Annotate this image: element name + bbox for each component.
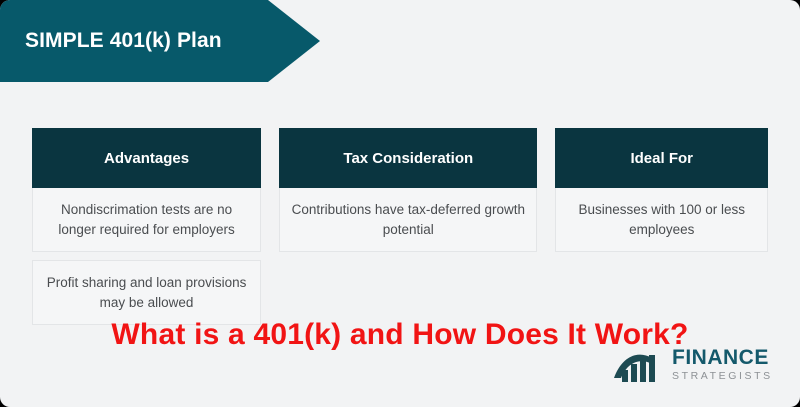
- logo-text: FINANCE STRATEGISTS: [672, 347, 773, 382]
- column-header-tax-consideration: Tax Consideration: [279, 128, 537, 188]
- comparison-table: Advantages Nondiscrimation tests are no …: [32, 128, 768, 325]
- page-surface: SIMPLE 401(k) Plan Advantages Nondiscrim…: [0, 0, 800, 407]
- table-column-tax-consideration: Tax Consideration Contributions have tax…: [279, 128, 537, 252]
- table-cell: Profit sharing and loan provisions may b…: [32, 260, 261, 325]
- header-banner: SIMPLE 401(k) Plan: [0, 0, 320, 82]
- cell-spacer: [32, 252, 261, 260]
- logo-word-strategists: STRATEGISTS: [672, 371, 773, 382]
- column-header-ideal-for: Ideal For: [555, 128, 768, 188]
- table-cell: Businesses with 100 or less employees: [555, 188, 768, 252]
- table-column-ideal-for: Ideal For Businesses with 100 or less em…: [555, 128, 768, 252]
- bar-chart-bridge-icon: [612, 344, 668, 384]
- table-cell: Contributions have tax-deferred growth p…: [279, 188, 537, 252]
- logo-word-finance: FINANCE: [672, 347, 773, 368]
- screenshot-root: SIMPLE 401(k) Plan Advantages Nondiscrim…: [0, 0, 800, 407]
- logo: FINANCE STRATEGISTS: [612, 341, 788, 387]
- banner-title: SIMPLE 401(k) Plan: [25, 29, 222, 53]
- table-cell: Nondiscrimation tests are no longer requ…: [32, 188, 261, 252]
- table-column-advantages: Advantages Nondiscrimation tests are no …: [32, 128, 261, 325]
- column-header-advantages: Advantages: [32, 128, 261, 188]
